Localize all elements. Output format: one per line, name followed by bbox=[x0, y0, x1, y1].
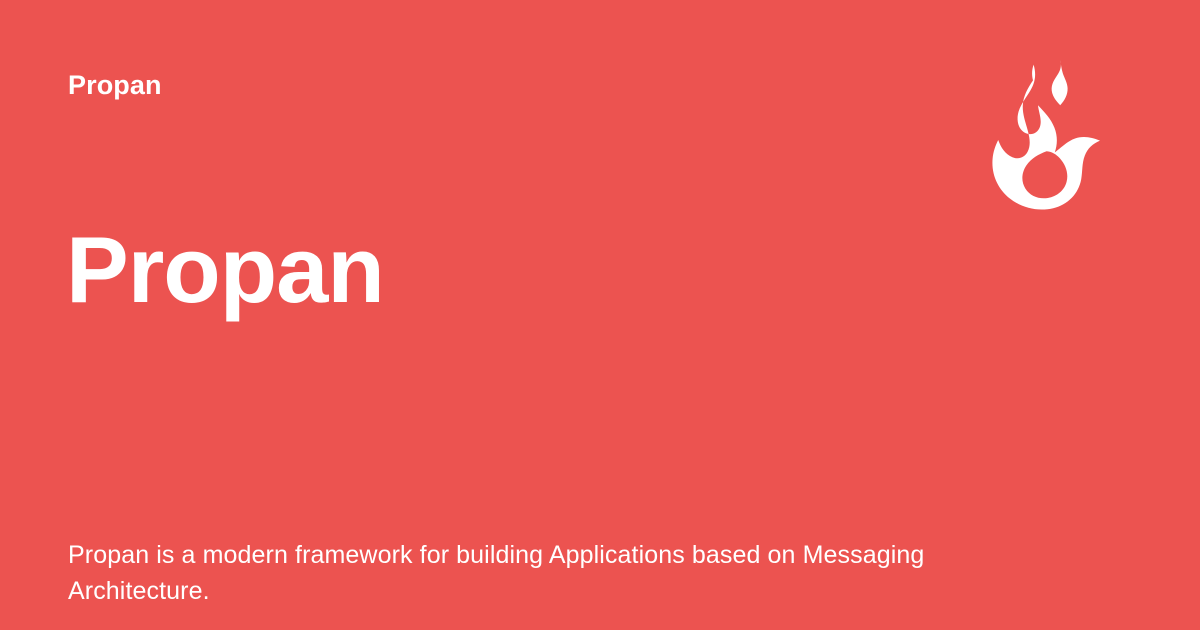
page-description: Propan is a modern framework for buildin… bbox=[68, 537, 928, 609]
site-label: Propan bbox=[68, 70, 162, 101]
flame-icon bbox=[984, 58, 1104, 210]
page-title: Propan bbox=[66, 221, 384, 320]
og-card: Propan Propan Propan is a modern framewo… bbox=[0, 0, 1200, 630]
